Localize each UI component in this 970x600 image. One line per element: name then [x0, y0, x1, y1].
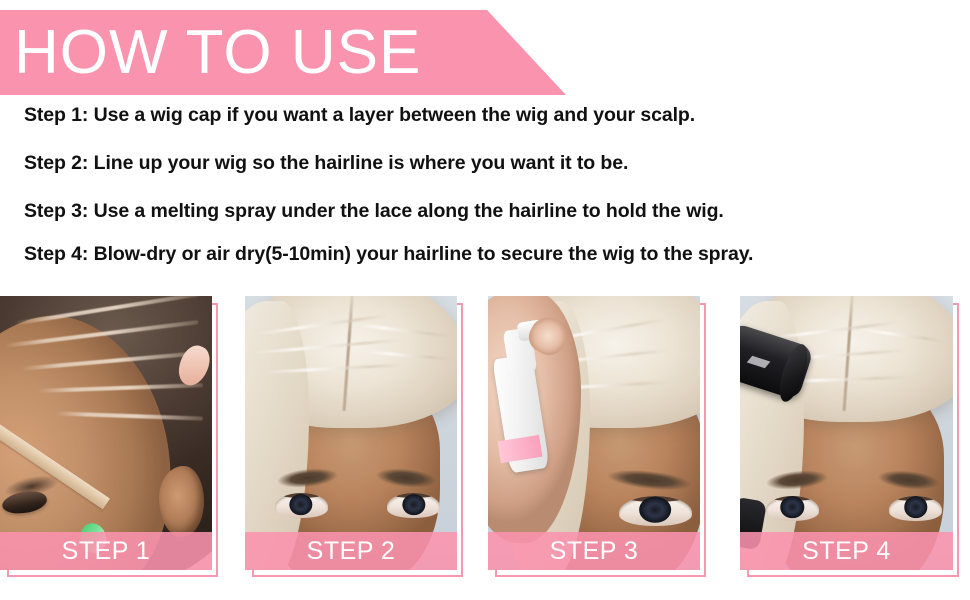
step-caption-label-2: STEP 2: [307, 539, 396, 564]
how-to-use-banner: HOW TO USE: [0, 10, 570, 95]
instruction-step-3: Step 3: Use a melting spray under the la…: [24, 200, 724, 223]
step-photo-1: STEP 1: [0, 296, 212, 570]
step-photo-2: STEP 2: [245, 296, 457, 570]
step-caption-bar-3: STEP 3: [488, 532, 700, 570]
instruction-step-2: Step 2: Line up your wig so the hairline…: [24, 152, 628, 175]
instruction-step-4: Step 4: Blow-dry or air dry(5-10min) you…: [24, 243, 753, 266]
step-caption-label-1: STEP 1: [62, 539, 151, 564]
page-title: HOW TO USE: [14, 22, 421, 84]
step-caption-bar-2: STEP 2: [245, 532, 457, 570]
step-photo-3: STEP 3: [488, 296, 700, 570]
step-caption-bar-1: STEP 1: [0, 532, 212, 570]
step-photo-row: STEP 1 STEP 2: [0, 296, 970, 576]
step-panel-3: STEP 3: [488, 296, 700, 570]
step-panel-1: STEP 1: [0, 296, 212, 570]
step-panel-2: STEP 2: [245, 296, 457, 570]
step-caption-label-3: STEP 3: [550, 539, 639, 564]
step-panel-4: STEP 4: [740, 296, 953, 570]
step-photo-4: STEP 4: [740, 296, 953, 570]
step-caption-label-4: STEP 4: [802, 539, 891, 564]
step-caption-bar-4: STEP 4: [740, 532, 953, 570]
instruction-step-1: Step 1: Use a wig cap if you want a laye…: [24, 104, 695, 127]
